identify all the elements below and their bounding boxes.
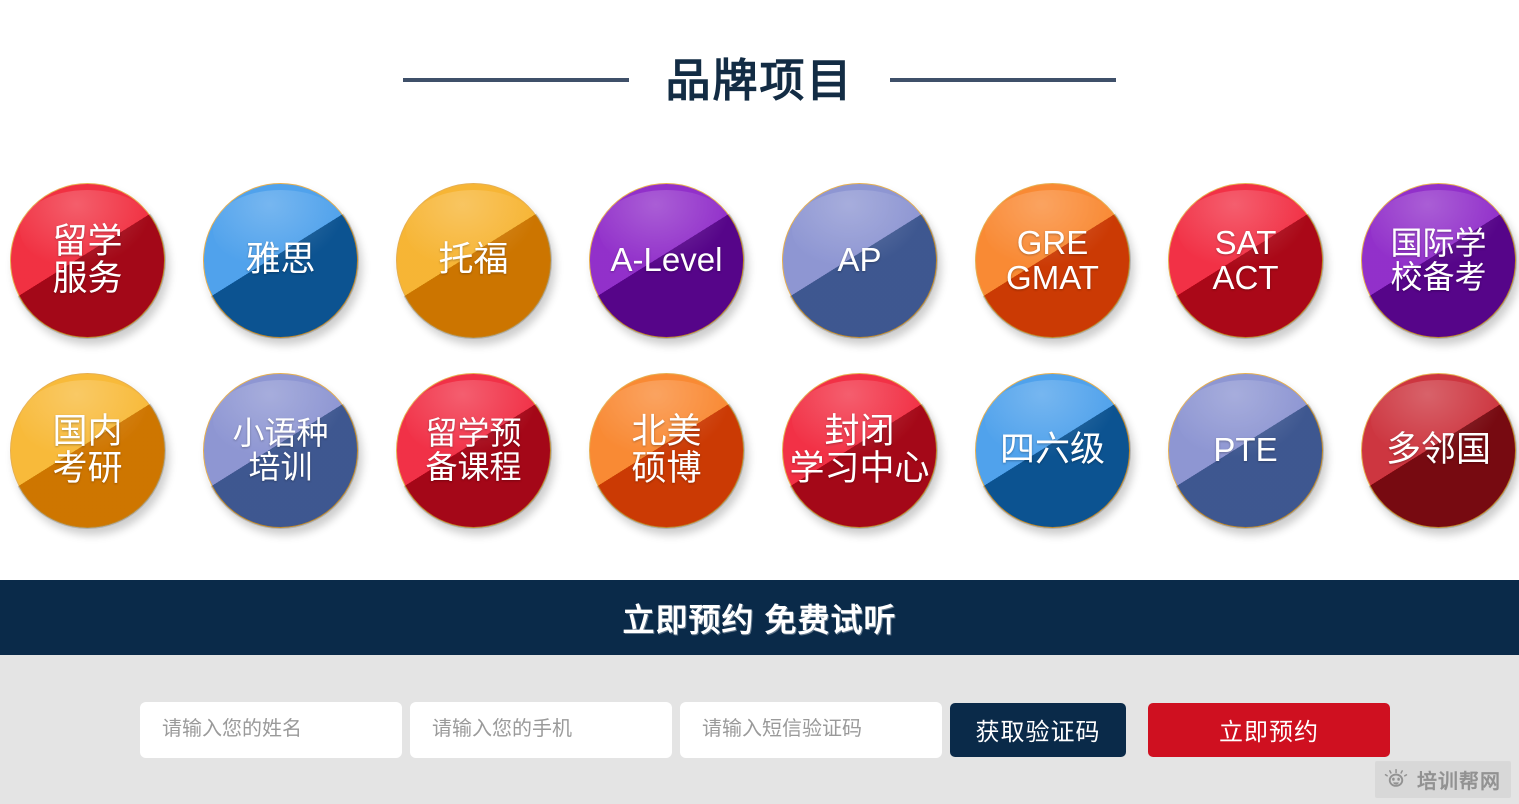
program-label: 多邻国 — [1386, 432, 1491, 468]
program-cell: SAT ACT — [1168, 160, 1361, 350]
program-label: 四六级 — [1000, 432, 1105, 468]
program-cell: 国际学 校备考 — [1361, 160, 1519, 350]
program-circle[interactable]: SAT ACT — [1168, 183, 1323, 338]
site-watermark: 培训帮网 — [1375, 761, 1511, 798]
name-input[interactable] — [140, 702, 402, 758]
program-label: 小语种 培训 — [232, 417, 328, 484]
title-rule-left — [403, 78, 629, 82]
program-circle[interactable]: A-Level — [589, 183, 744, 338]
program-label: 托福 — [438, 242, 508, 278]
program-circle[interactable]: 四六级 — [975, 373, 1130, 528]
program-circle[interactable]: 雅思 — [203, 183, 358, 338]
program-cell: A-Level — [589, 160, 782, 350]
program-row-1: 留学 服务雅思托福A-LevelAPGRE GMATSAT ACT国际学 校备考 — [0, 160, 1519, 350]
program-cell: 雅思 — [203, 160, 396, 350]
program-circle[interactable]: 留学预 备课程 — [396, 373, 551, 528]
page-header: 品牌项目 — [0, 0, 1519, 160]
cta-banner: 立即预约 免费试听 — [0, 580, 1519, 655]
program-circle[interactable]: 小语种 培训 — [203, 373, 358, 528]
program-cell: 托福 — [396, 160, 589, 350]
program-cell: PTE — [1168, 350, 1361, 540]
program-label: 留学 服务 — [52, 224, 122, 297]
program-circle[interactable]: 北美 硕博 — [589, 373, 744, 528]
program-label: 封闭 学习中心 — [789, 414, 929, 487]
program-cell: 封闭 学习中心 — [782, 350, 975, 540]
program-cell: 小语种 培训 — [203, 350, 396, 540]
program-label: 雅思 — [245, 242, 315, 278]
program-label: 留学预 备课程 — [425, 417, 521, 484]
sms-code-input[interactable] — [680, 702, 942, 758]
page-title: 品牌项目 — [665, 58, 853, 103]
program-cell: 国内 考研 — [10, 350, 203, 540]
get-verification-code-button[interactable]: 获取验证码 — [950, 703, 1126, 757]
booking-form: 获取验证码 立即预约 — [0, 655, 1519, 804]
smiley-sun-icon — [1383, 769, 1409, 791]
program-cell: 留学 服务 — [10, 160, 203, 350]
program-label: A-Level — [611, 243, 723, 277]
program-cell: 四六级 — [975, 350, 1168, 540]
program-circle[interactable]: GRE GMAT — [975, 183, 1130, 338]
program-circle[interactable]: 托福 — [396, 183, 551, 338]
program-grid: 留学 服务雅思托福A-LevelAPGRE GMATSAT ACT国际学 校备考… — [0, 160, 1519, 580]
program-label: 国内 考研 — [52, 414, 122, 487]
program-cell: 北美 硕博 — [589, 350, 782, 540]
program-circle[interactable]: 多邻国 — [1361, 373, 1516, 528]
program-cell: 留学预 备课程 — [396, 350, 589, 540]
program-circle[interactable]: 国际学 校备考 — [1361, 183, 1516, 338]
program-cell: GRE GMAT — [975, 160, 1168, 350]
program-label: 北美 硕博 — [631, 414, 701, 487]
program-cell: 多邻国 — [1361, 350, 1519, 540]
program-label: SAT ACT — [1213, 226, 1279, 295]
submit-booking-button[interactable]: 立即预约 — [1148, 703, 1390, 757]
program-label: PTE — [1213, 433, 1277, 467]
program-circle[interactable]: 封闭 学习中心 — [782, 373, 937, 528]
program-circle[interactable]: 国内 考研 — [10, 373, 165, 528]
program-row-2: 国内 考研小语种 培训留学预 备课程北美 硕博封闭 学习中心四六级PTE多邻国 — [0, 350, 1519, 540]
program-circle[interactable]: 留学 服务 — [10, 183, 165, 338]
program-label: 国际学 校备考 — [1390, 227, 1486, 294]
program-cell: AP — [782, 160, 975, 350]
title-rule-right — [890, 78, 1116, 82]
program-circle[interactable]: AP — [782, 183, 937, 338]
watermark-label: 培训帮网 — [1417, 765, 1501, 794]
cta-banner-title: 立即预约 免费试听 — [623, 595, 897, 641]
program-circle[interactable]: PTE — [1168, 373, 1323, 528]
phone-input[interactable] — [410, 702, 672, 758]
program-label: AP — [837, 243, 881, 277]
program-label: GRE GMAT — [1006, 226, 1099, 295]
